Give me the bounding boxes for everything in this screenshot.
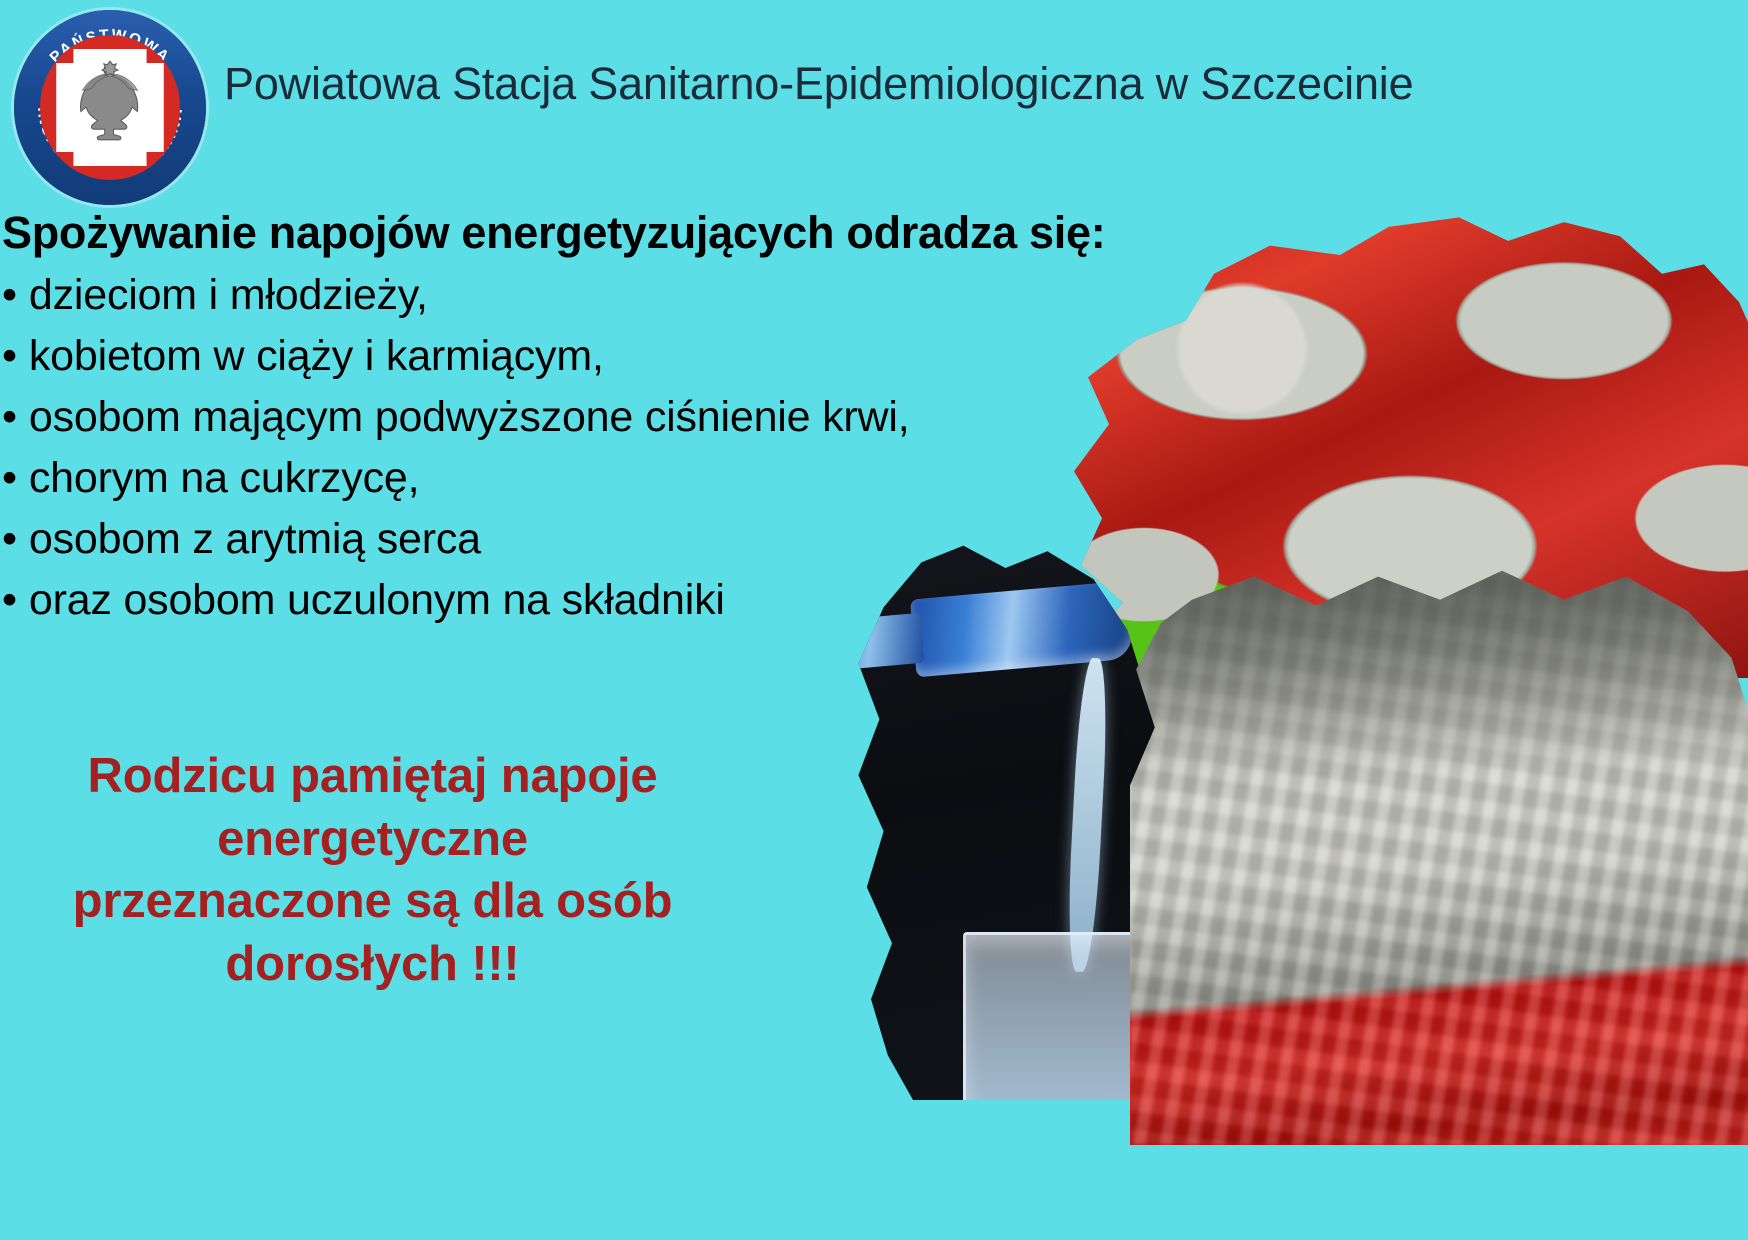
callout-line: przeznaczone są dla osób (0, 870, 745, 933)
main-text-block: Spożywanie napojów energetyzujących odra… (0, 205, 1160, 632)
list-item: •osobom mającym podwyższone ciśnienie kr… (0, 387, 1160, 448)
bullet-icon: • (2, 265, 17, 326)
sanitary-inspection-logo: PAŃSTWOWA INSPEKCJA SANITARNA (14, 10, 206, 205)
list-item: •dzieciom i młodzieży, (0, 265, 1160, 326)
main-heading: Spożywanie napojów energetyzujących odra… (0, 205, 1160, 261)
bullet-icon: • (2, 570, 17, 631)
callout-line: energetyczne (0, 808, 745, 871)
list-item-label: oraz osobom uczulonym na składniki (29, 576, 725, 624)
bullet-icon: • (2, 387, 17, 448)
list-item: •chorym na cukrzycę, (0, 448, 1160, 509)
bullet-icon: • (2, 326, 17, 387)
list-item-label: chorym na cukrzycę, (29, 454, 420, 502)
poster-canvas: PAŃSTWOWA INSPEKCJA SANITARNA Powiatowa … (0, 0, 1748, 1240)
bullet-icon: • (2, 448, 17, 509)
list-item-label: osobom z arytmią serca (29, 515, 481, 563)
list-item-label: dzieciom i młodzieży, (29, 271, 428, 319)
page-title: Powiatowa Stacja Sanitarno-Epidemiologic… (224, 58, 1413, 110)
list-item-label: kobietom w ciąży i karmiącym, (29, 332, 604, 380)
water-stream (1064, 657, 1110, 972)
header: PAŃSTWOWA INSPEKCJA SANITARNA Powiatowa … (0, 0, 1748, 205)
list-item: •osobom z arytmią serca (0, 509, 1160, 570)
list-item: •oraz osobom uczulonym na składniki (0, 570, 1160, 631)
bullet-icon: • (2, 509, 17, 570)
polish-eagle-icon (66, 57, 154, 158)
callout-line: Rodzicu pamiętaj napoje (0, 745, 745, 808)
list-item: •kobietom w ciąży i karmiącym, (0, 326, 1160, 387)
can-production-line-image (1130, 565, 1748, 1145)
callout-line: dorosłych !!! (0, 933, 745, 996)
list-item-label: osobom mającym podwyższone ciśnienie krw… (29, 393, 910, 441)
risk-group-list: •dzieciom i młodzieży, •kobietom w ciąży… (0, 265, 1160, 631)
drinking-glass (963, 932, 1154, 1100)
parent-warning-callout: Rodzicu pamiętaj napoje energetyczne prz… (0, 745, 745, 996)
